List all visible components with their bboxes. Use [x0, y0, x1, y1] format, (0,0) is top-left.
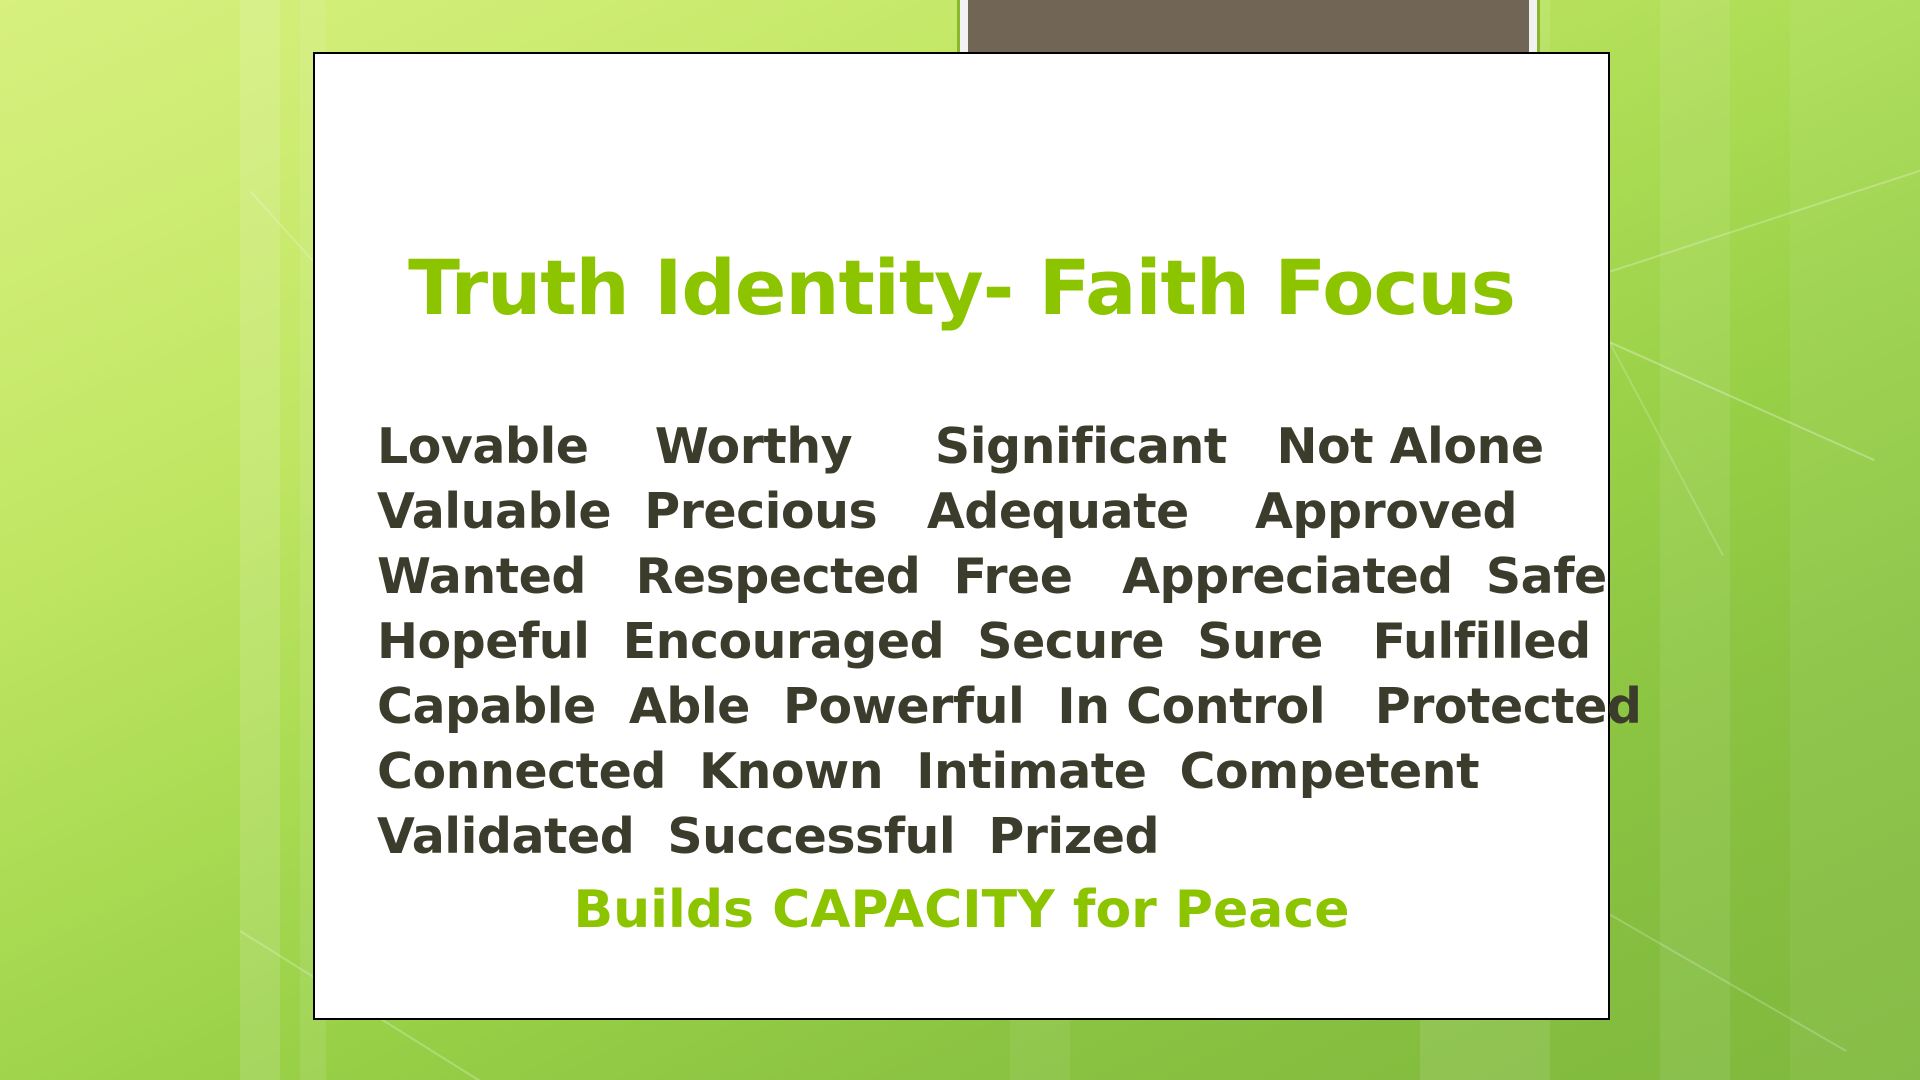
background-facet-5 [1660, 0, 1730, 1080]
slide-title: Truth Identity- Faith Focus [315, 250, 1608, 326]
word-line: Hopeful Encouraged Secure Sure Fulfilled [377, 609, 1547, 674]
slide-content-card: Truth Identity- Faith Focus Lovable Wort… [313, 52, 1610, 1020]
word-line: Connected Known Intimate Competent [377, 739, 1547, 804]
word-line: Valuable Precious Adequate Approved [377, 479, 1547, 544]
slide-canvas: Truth Identity- Faith Focus Lovable Wort… [0, 0, 1920, 1080]
background-facet-1 [240, 0, 280, 1080]
word-line: Validated Successful Prized [377, 804, 1547, 869]
word-line: Capable Able Powerful In Control Protect… [377, 674, 1547, 739]
affirmation-word-list: Lovable Worthy Significant Not Alone Val… [377, 414, 1547, 869]
word-line: Wanted Respected Free Appreciated Safe [377, 544, 1547, 609]
word-line: Lovable Worthy Significant Not Alone [377, 414, 1547, 479]
background-facet-6 [1790, 0, 1920, 1080]
slide-closing-statement: Builds CAPACITY for Peace [315, 884, 1608, 936]
